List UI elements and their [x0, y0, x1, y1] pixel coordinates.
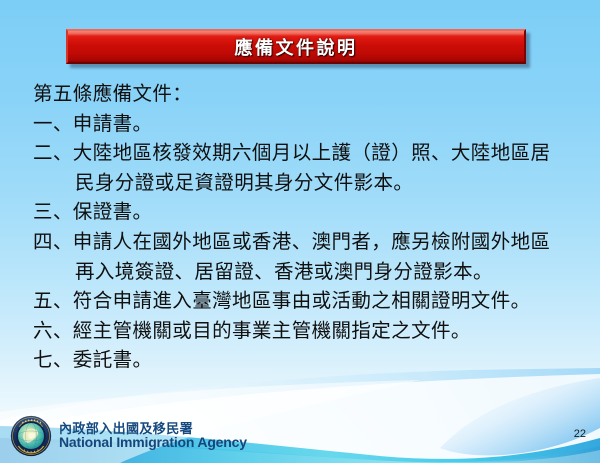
list-item: 二、大陸地區核發效期六個月以上護（證）照、大陸地區居 [33, 139, 578, 169]
list-item: 五、符合申請進入臺灣地區事由或活動之相關證明文件。 [33, 287, 578, 317]
agency-name-zh: 內政部入出國及移民署 [59, 422, 247, 436]
title-banner: 應備文件說明 [66, 29, 526, 64]
page-title: 應備文件說明 [235, 34, 358, 60]
agency-name-en: National Immigration Agency [59, 435, 247, 450]
list-item: 七、委託書。 [33, 346, 578, 376]
document-body: 第五條應備文件： 一、申請書。 二、大陸地區核發效期六個月以上護（證）照、大陸地… [33, 80, 578, 376]
list-item: 三、保證書。 [33, 198, 578, 228]
list-item-continuation: 再入境簽證、居留證、香港或澳門身分證影本。 [33, 258, 578, 288]
slide-canvas: 應備文件說明 第五條應備文件： 一、申請書。 二、大陸地區核發效期六個月以上護（… [0, 0, 600, 463]
list-item: 四、申請人在國外地區或香港、澳門者，應另檢附國外地區 [33, 228, 578, 258]
title-banner-bar: 應備文件說明 [66, 29, 526, 64]
agency-name-block: 內政部入出國及移民署 National Immigration Agency [59, 422, 247, 450]
list-item: 一、申請書。 [33, 110, 578, 140]
list-item-continuation: 民身分證或足資證明其身分文件影本。 [33, 169, 578, 199]
body-heading: 第五條應備文件： [33, 80, 578, 110]
list-item: 六、經主管機關或目的事業主管機關指定之文件。 [33, 317, 578, 347]
page-number: 22 [574, 428, 586, 440]
footer-logo: 內政部入出國及移民署 National Immigration Agency [10, 415, 247, 457]
agency-seal-icon [10, 415, 52, 457]
